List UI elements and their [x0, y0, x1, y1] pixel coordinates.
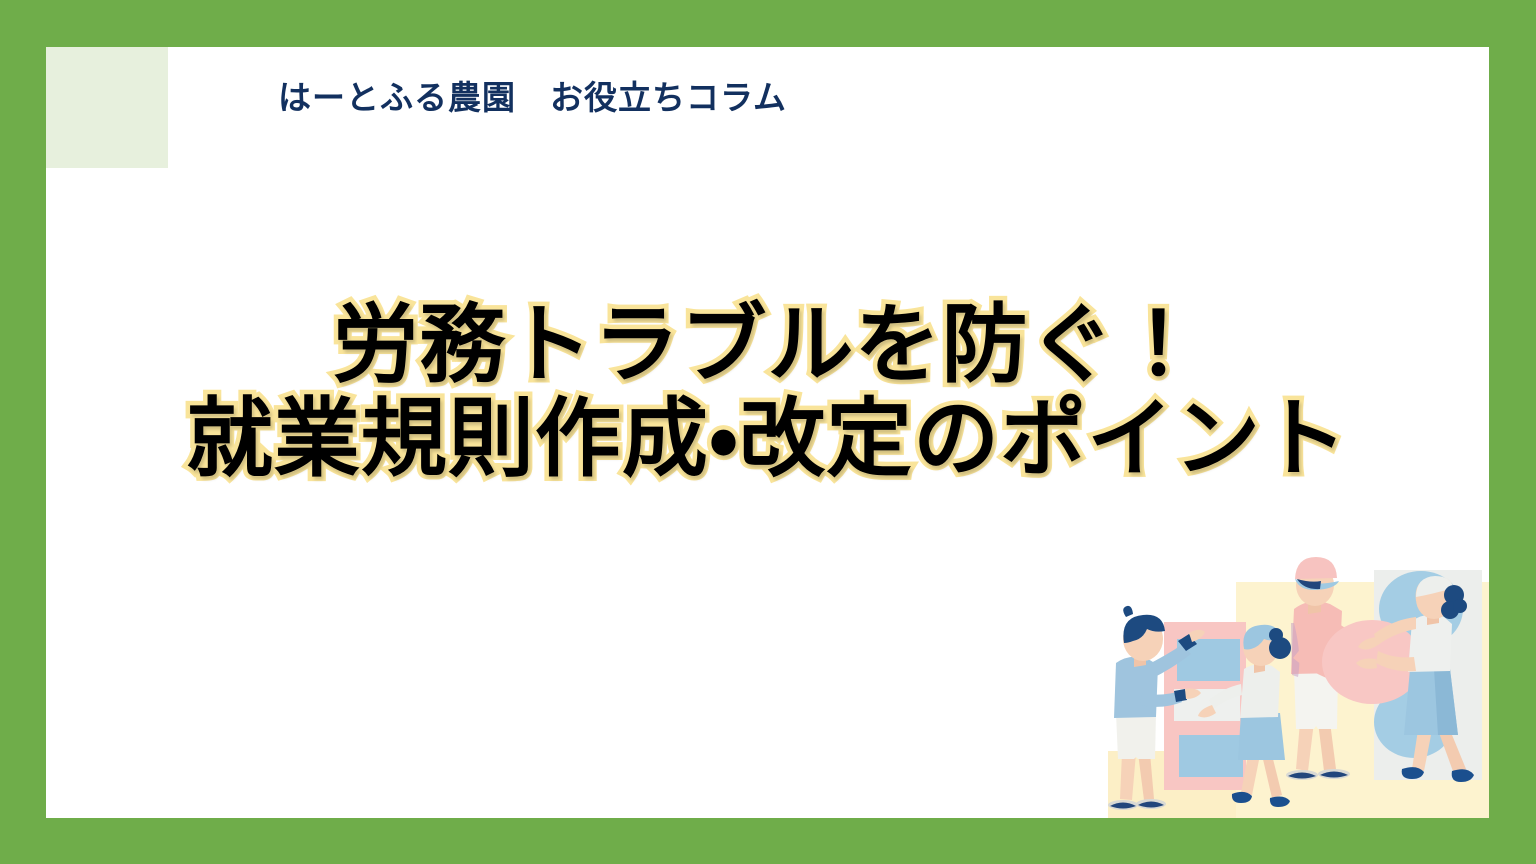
girl-top: [1240, 664, 1280, 718]
woman-hair-bun-small: [1453, 599, 1467, 613]
boy-shorts: [1116, 713, 1156, 759]
girl-hair-bun-small: [1269, 628, 1283, 642]
headline-block: 労務トラブルを防ぐ！ 就業規則作成・改定のポイント: [46, 302, 1489, 483]
girl-skirt: [1238, 713, 1285, 760]
headline-line-2: 就業規則作成・改定のポイント: [46, 396, 1489, 484]
headline-line-1: 労務トラブルを防ぐ！: [46, 302, 1489, 390]
corner-accent-square: [46, 47, 168, 168]
boy-hair-tuft: [1123, 606, 1133, 617]
content-card: はーとふる農園 お役立ちコラム 労務トラブルを防ぐ！ 就業規則作成・改定のポイン…: [46, 47, 1489, 818]
site-title: はーとふる農園 お役立ちコラム: [278, 71, 787, 119]
man-cap-crown: [1295, 557, 1337, 579]
illustration-people-arranging-panels: [1046, 517, 1489, 818]
poster-canvas: はーとふる農園 お役立ちコラム 労務トラブルを防ぐ！ 就業規則作成・改定のポイン…: [0, 0, 1536, 864]
boy-cuff-lower: [1174, 689, 1187, 702]
pink-panel-blue-bottom: [1179, 735, 1243, 777]
